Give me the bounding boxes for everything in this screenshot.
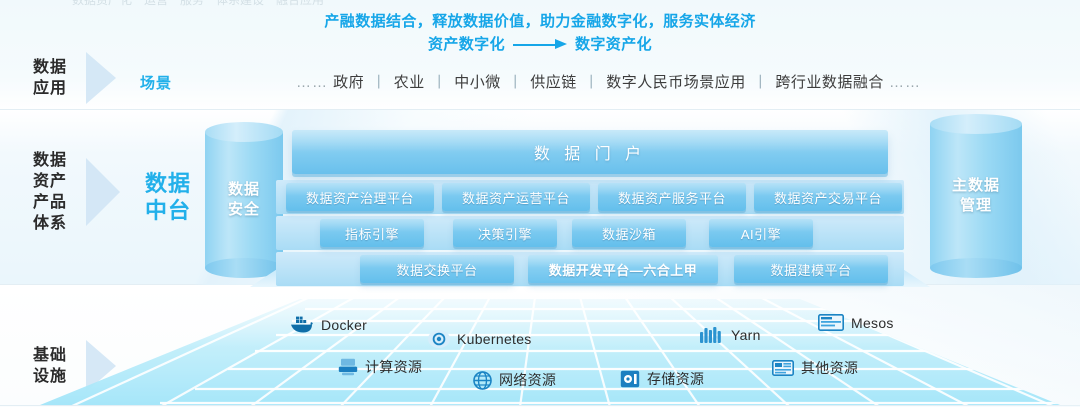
stage-label-line-4: 体系	[28, 213, 72, 234]
infrastructure-item-label: 存储资源	[647, 369, 704, 389]
platform-chip[interactable]: AI引擎	[709, 219, 813, 247]
infrastructure-item-label: Docker	[321, 317, 367, 333]
platform-chip-label: 数据建模平台	[770, 260, 851, 279]
infrastructure-item[interactable]: 网络资源	[473, 370, 556, 390]
infrastructure-item-label: 其他资源	[801, 358, 858, 378]
triangle-arrow-icon	[86, 158, 120, 226]
cylinder-master-data-management: 主数据 管理	[930, 114, 1022, 278]
mesos-card-icon	[818, 314, 844, 331]
stage-label-line-1: 数据	[28, 150, 72, 171]
infrastructure-item-list: Docker Kubernetes Yarn	[0, 0, 1080, 122]
platform-chip-label: 数据开发平台—六合上甲	[549, 260, 698, 279]
infrastructure-item[interactable]: Yarn	[700, 327, 761, 343]
diagram-canvas: 数据资产化 运营 服务 体系建设 融合应用 产融数据结合，释放数据价值，助力金融…	[0, 0, 1080, 407]
platform-chip[interactable]: 指标引擎	[320, 219, 424, 247]
platform-chip[interactable]: 数据资产服务平台	[598, 183, 746, 211]
stage-label-line-2: 资产	[28, 171, 72, 192]
platform-chip-label: 数据资产交易平台	[774, 188, 882, 207]
storage-disk-icon	[620, 370, 640, 388]
infrastructure-item[interactable]: 其他资源	[772, 358, 858, 378]
kubernetes-helm-icon	[428, 329, 450, 349]
infrastructure-item[interactable]: Kubernetes	[428, 329, 532, 349]
platform-chip[interactable]: 决策引擎	[453, 219, 557, 247]
infrastructure-item-label: 计算资源	[365, 357, 422, 377]
platform-chip-label: 指标引擎	[345, 224, 399, 243]
middle-platform-label: 数据 中台	[137, 170, 199, 224]
other-resource-icon	[772, 360, 794, 376]
data-portal-banner[interactable]: 数 据 门 户	[292, 130, 888, 174]
platform-chip[interactable]: 数据资产交易平台	[754, 183, 902, 211]
platform-chip[interactable]: 数据交换平台	[360, 255, 514, 283]
infrastructure-item-label: Yarn	[731, 327, 761, 343]
infrastructure-item-label: 网络资源	[499, 370, 556, 390]
platform-chip-label: 数据资产运营平台	[462, 188, 570, 207]
stage-label-line-3: 产品	[28, 192, 72, 213]
infrastructure-item-label: Mesos	[851, 315, 894, 331]
platform-chip-label: 数据交换平台	[396, 260, 477, 279]
platform-chip-label: 决策引擎	[478, 224, 532, 243]
docker-whale-icon	[290, 316, 314, 334]
infrastructure-grid-plane	[0, 297, 1080, 407]
infrastructure-item[interactable]: 存储资源	[620, 369, 704, 389]
middle-platform-line-1: 数据	[137, 170, 199, 197]
platform-chip[interactable]: 数据沙箱	[572, 219, 686, 247]
platform-chip[interactable]: 数据开发平台—六合上甲	[528, 255, 718, 283]
infrastructure-item[interactable]: 计算资源	[338, 357, 422, 377]
infrastructure-item[interactable]: Mesos	[818, 314, 894, 331]
stage-label-data-asset-system: 数据 资产 产品 体系	[28, 150, 120, 234]
compute-server-icon	[338, 358, 358, 376]
platform-chip-label: 数据资产治理平台	[306, 188, 414, 207]
platform-chip[interactable]: 数据资产治理平台	[286, 183, 434, 211]
cylinder-label-line-2: 管理	[930, 196, 1022, 216]
middle-platform-line-2: 中台	[137, 197, 199, 224]
platform-chip[interactable]: 数据资产运营平台	[442, 183, 590, 211]
platform-chip-label: AI引擎	[741, 224, 781, 243]
platform-deck: 数 据 门 户 数据资产治理平台数据资产运营平台数据资产服务平台数据资产交易平台…	[250, 118, 930, 283]
platform-chip-label: 数据资产服务平台	[618, 188, 726, 207]
cylinder-label-line-1: 主数据	[930, 176, 1022, 196]
infrastructure-item-label: Kubernetes	[457, 331, 532, 347]
infrastructure-item[interactable]: Docker	[290, 316, 367, 334]
platform-chip[interactable]: 数据建模平台	[734, 255, 888, 283]
platform-chip-label: 数据沙箱	[602, 224, 656, 243]
yarn-bars-icon	[700, 327, 724, 343]
network-globe-icon	[473, 371, 492, 390]
